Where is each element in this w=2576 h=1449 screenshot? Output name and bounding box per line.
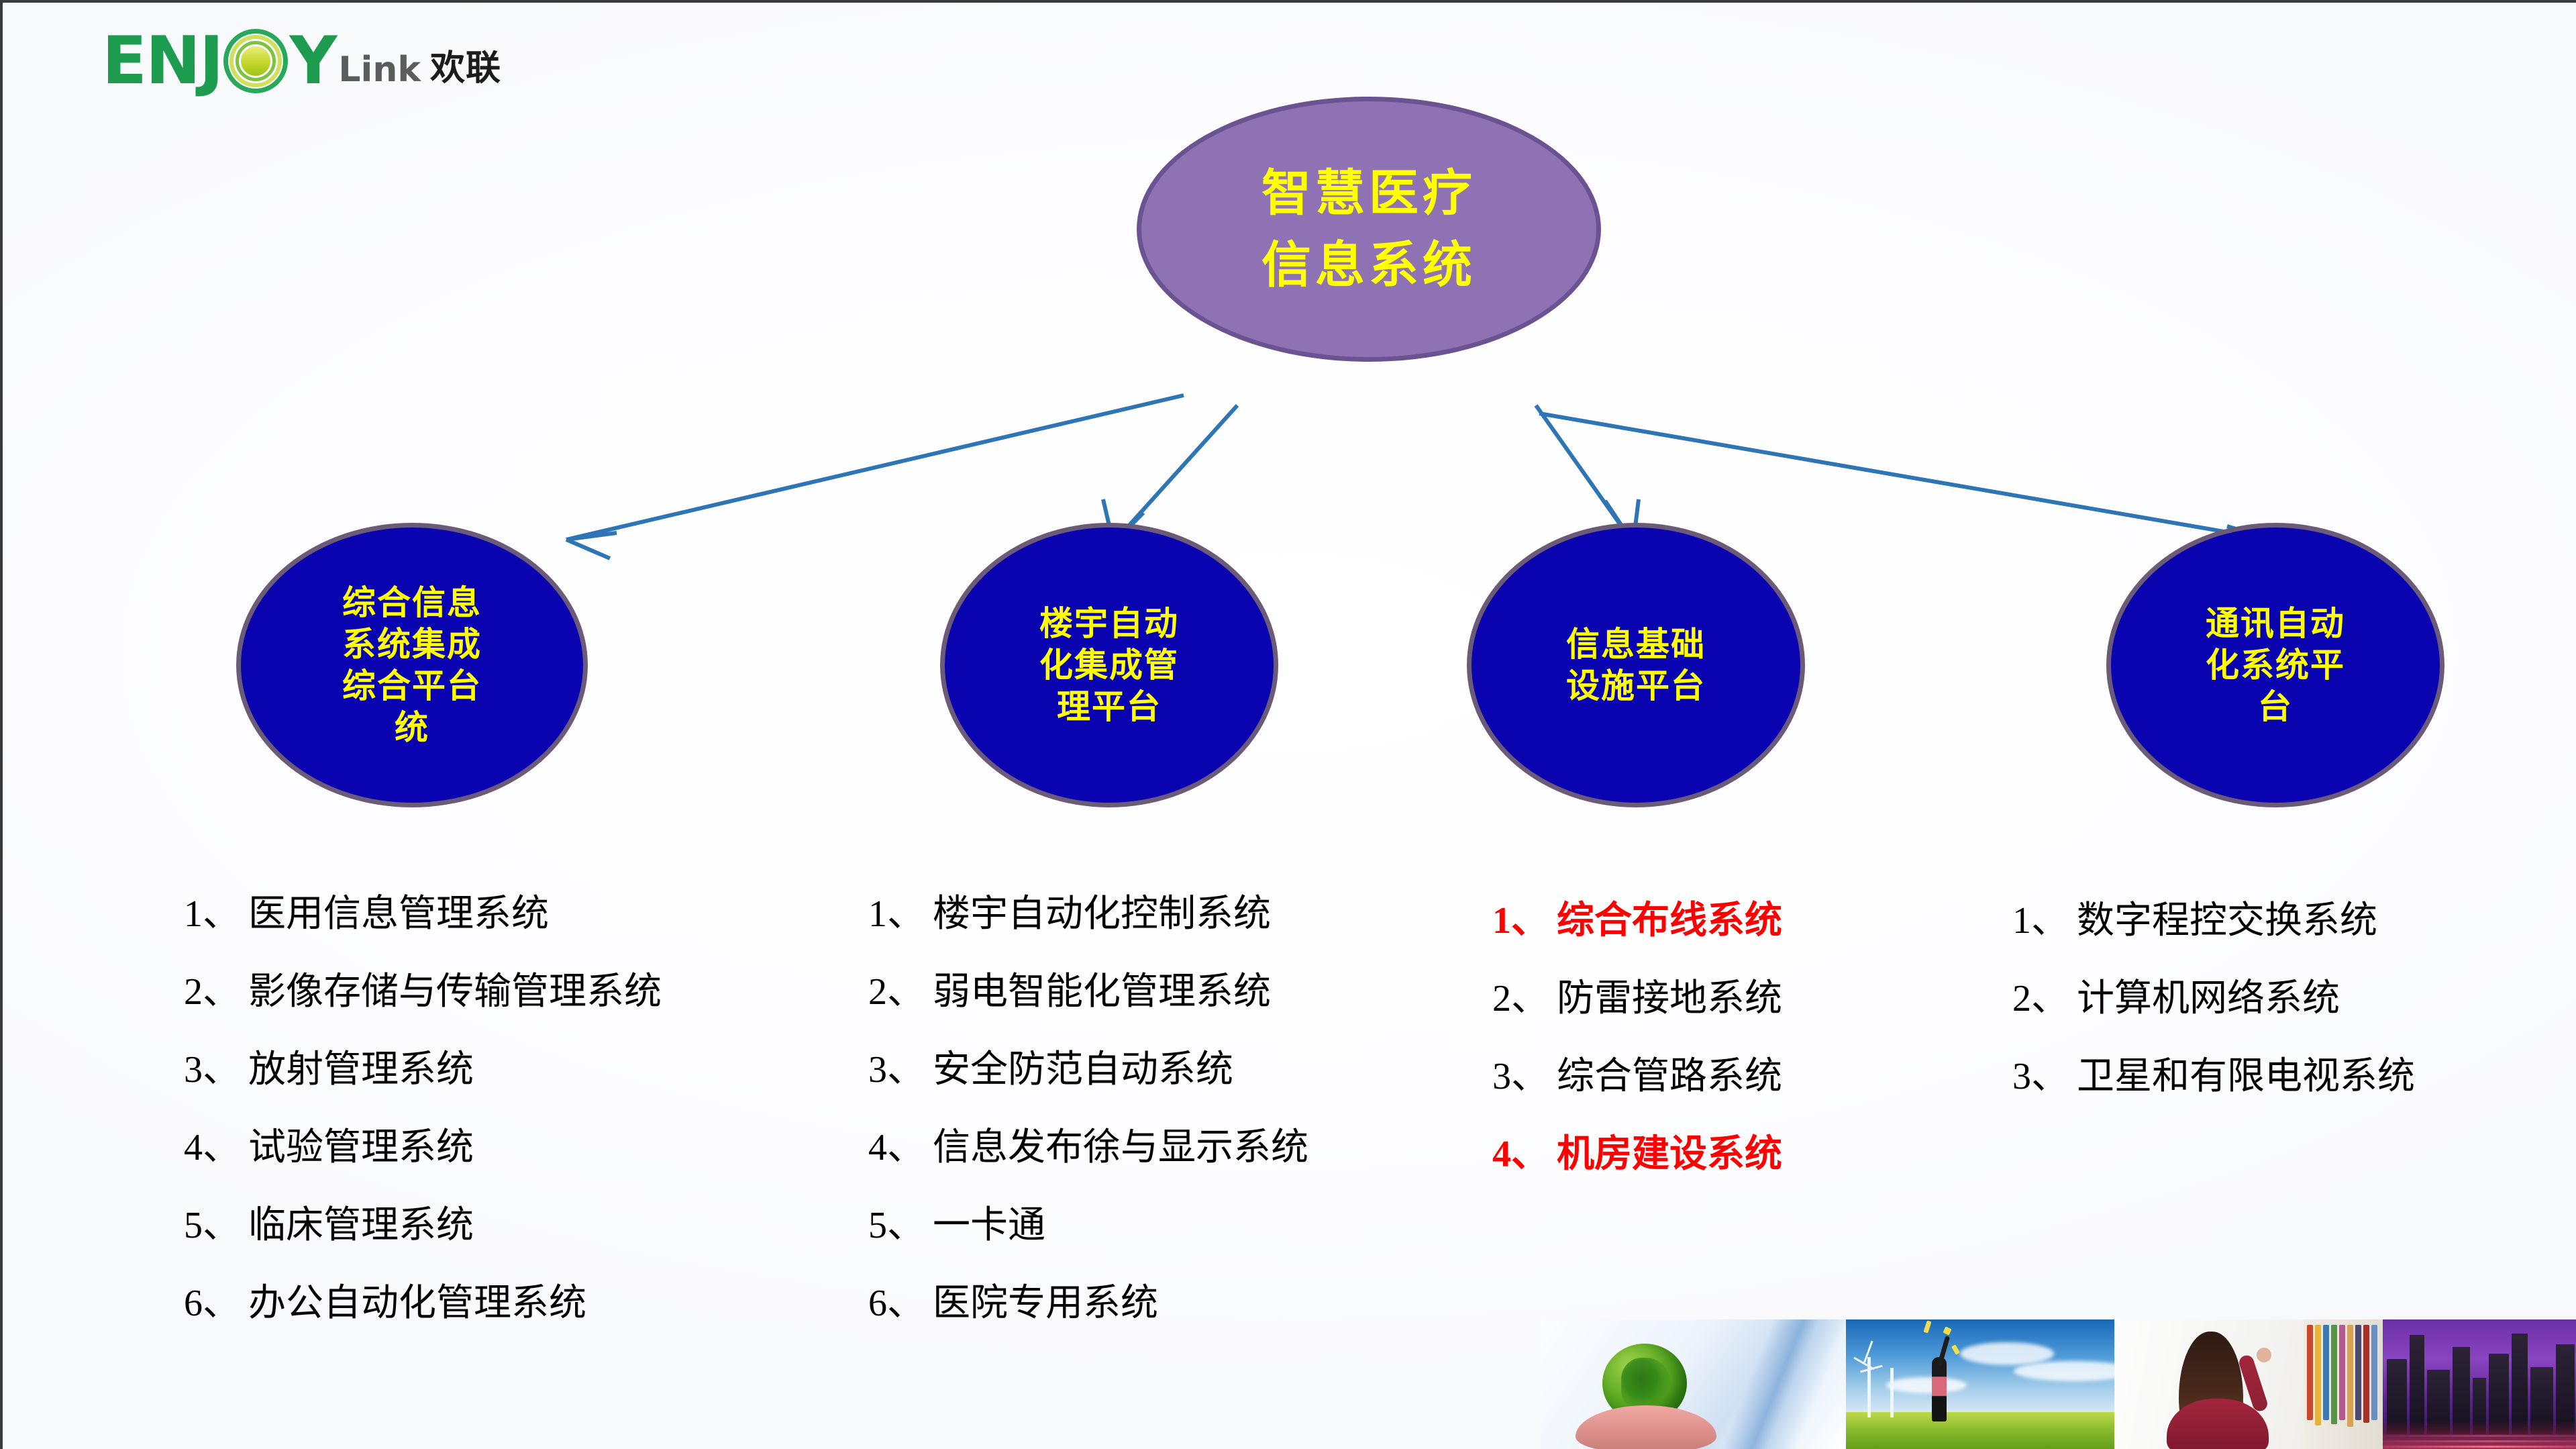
logo-text-link: Link [338, 50, 421, 90]
list-item-label: 数字程控交换系统 [2077, 902, 2377, 940]
list-item: 3、卫星和有限电视系统 [2012, 1058, 2569, 1095]
node-leaf-0-line-1: 综合信息 [342, 584, 482, 622]
list-item: 4、机房建设系统 [1492, 1136, 2002, 1173]
list-item-index: 1、 [2012, 902, 2077, 940]
list-item-index: 6、 [184, 1285, 248, 1322]
list-item: 3、安全防范自动系统 [868, 1051, 1472, 1089]
node-leaf-1-line-2: 化集成管 [1039, 646, 1179, 685]
node-leaf-3-line-1: 通讯自动 [2206, 605, 2345, 643]
list-item: 2、防雷接地系统 [1492, 980, 2002, 1017]
list-item-label: 医院专用系统 [933, 1285, 1158, 1322]
list-item-label: 安全防范自动系统 [933, 1051, 1233, 1089]
list-column-medical: 1、医用信息管理系统 2、影像存储与传输管理系统 3、放射管理系统 4、试验管理… [184, 895, 868, 1362]
list-item-index: 5、 [184, 1207, 248, 1244]
list-item: 1、医用信息管理系统 [184, 895, 868, 933]
logo-text-cn: 欢联 [430, 40, 501, 90]
list-item: 2、弱电智能化管理系统 [868, 973, 1472, 1011]
node-leaf-3-line-2: 化系统平 [2206, 646, 2345, 685]
list-item: 2、计算机网络系统 [2012, 980, 2569, 1017]
list-item-index: 1、 [868, 895, 933, 933]
list-column-infrastructure: 1、综合布线系统 2、防雷接地系统 3、综合管路系统 4、机房建设系统 [1492, 902, 2002, 1213]
photo-purple-night-city-skyline [2383, 1319, 2576, 1449]
list-item-index: 3、 [1492, 1058, 1557, 1095]
list-item: 4、试验管理系统 [184, 1129, 868, 1166]
list-item-index: 1、 [1492, 902, 1557, 940]
node-information-infrastructure-platform[interactable]: 信息基础 设施平台 [1467, 523, 1805, 807]
list-item-index: 4、 [868, 1129, 933, 1166]
photo-hands-holding-green-globe [1541, 1319, 1846, 1449]
list-item-label: 影像存储与传输管理系统 [248, 973, 662, 1011]
node-communication-automation-platform[interactable]: 通讯自动 化系统平 台 [2106, 523, 2444, 807]
list-item: 4、信息发布徐与显示系统 [868, 1129, 1472, 1166]
list-item: 1、楼宇自动化控制系统 [868, 895, 1472, 933]
list-column-communication: 1、数字程控交换系统 2、计算机网络系统 3、卫星和有限电视系统 [2012, 902, 2569, 1136]
node-leaf-1-line-3: 理平台 [1039, 688, 1179, 726]
list-item-index: 3、 [868, 1051, 933, 1089]
node-root-line-1: 智慧医疗 [1261, 165, 1476, 221]
node-leaf-1-label: 楼宇自动 化集成管 理平台 [1035, 601, 1183, 730]
photo-strip [1541, 1319, 2576, 1449]
sun-leaf-icon [223, 29, 288, 93]
list-item-label: 综合布线系统 [1557, 902, 1782, 940]
list-item-index: 3、 [184, 1051, 248, 1089]
list-item-index: 2、 [184, 973, 248, 1011]
node-root-line-2: 信息系统 [1261, 237, 1476, 293]
list-item: 6、医院专用系统 [868, 1285, 1472, 1322]
node-leaf-2-label: 信息基础 设施平台 [1562, 622, 1710, 709]
slide-canvas: ENJ Y Link 欢联 智慧医疗 [0, 0, 2576, 1449]
list-item: 2、影像存储与传输管理系统 [184, 973, 868, 1011]
list-item-index: 3、 [2012, 1058, 2077, 1095]
list-item-index: 2、 [868, 973, 933, 1011]
node-leaf-3-line-3: 台 [2206, 688, 2345, 726]
list-item-label: 防雷接地系统 [1557, 980, 1782, 1017]
list-item: 3、放射管理系统 [184, 1051, 868, 1089]
list-item-label: 一卡通 [933, 1207, 1045, 1244]
list-item-label: 办公自动化管理系统 [248, 1285, 586, 1322]
list-item-label: 综合管路系统 [1557, 1058, 1782, 1095]
list-item-index: 2、 [1492, 980, 1557, 1017]
list-item-label: 楼宇自动化控制系统 [933, 895, 1271, 933]
node-leaf-0-line-3: 综合平台 [342, 667, 482, 705]
node-leaf-2-line-1: 信息基础 [1566, 626, 1706, 664]
node-building-automation-platform[interactable]: 楼宇自动 化集成管 理平台 [940, 523, 1278, 807]
list-item-label: 放射管理系统 [248, 1051, 474, 1089]
list-item-index: 2、 [2012, 980, 2077, 1017]
photo-person-reaching-sky-windmills [1846, 1319, 2114, 1449]
list-item: 3、综合管路系统 [1492, 1058, 2002, 1095]
list-item-index: 5、 [868, 1207, 933, 1244]
list-item-label: 信息发布徐与显示系统 [933, 1129, 1308, 1166]
list-item: 1、综合布线系统 [1492, 902, 2002, 940]
list-item-label: 临床管理系统 [248, 1207, 474, 1244]
list-item: 1、数字程控交换系统 [2012, 902, 2569, 940]
list-item-label: 机房建设系统 [1557, 1136, 1782, 1173]
node-leaf-0-line-4: 统 [342, 709, 482, 747]
list-item-label: 试验管理系统 [248, 1129, 474, 1166]
enjoylink-logo: ENJ Y Link 欢联 [102, 28, 501, 94]
list-item-label: 卫星和有限电视系统 [2077, 1058, 2415, 1095]
logo-text-enj: ENJ [102, 28, 222, 94]
node-leaf-0-line-2: 系统集成 [342, 626, 482, 664]
list-item-index: 4、 [184, 1129, 248, 1166]
node-root-label: 智慧医疗 信息系统 [1257, 150, 1480, 308]
node-comprehensive-info-platform[interactable]: 综合信息 系统集成 综合平台 统 [236, 523, 588, 807]
photo-woman-at-bookshelf [2114, 1319, 2383, 1449]
list-item-index: 4、 [1492, 1136, 1557, 1173]
list-item-label: 计算机网络系统 [2077, 980, 2340, 1017]
node-leaf-3-label: 通讯自动 化系统平 台 [2202, 601, 2349, 730]
list-item: 6、办公自动化管理系统 [184, 1285, 868, 1322]
node-leaf-1-line-1: 楼宇自动 [1039, 605, 1179, 643]
list-item: 5、临床管理系统 [184, 1207, 868, 1244]
logo-text-y: Y [289, 28, 336, 94]
list-item: 5、一卡通 [868, 1207, 1472, 1244]
list-item-label: 医用信息管理系统 [248, 895, 549, 933]
node-leaf-2-line-2: 设施平台 [1566, 667, 1706, 705]
list-item-index: 6、 [868, 1285, 933, 1322]
node-leaf-0-label: 综合信息 系统集成 综合平台 统 [338, 581, 486, 750]
node-root[interactable]: 智慧医疗 信息系统 [1137, 97, 1601, 362]
list-column-building: 1、楼宇自动化控制系统 2、弱电智能化管理系统 3、安全防范自动系统 4、信息发… [868, 895, 1472, 1362]
list-item-index: 1、 [184, 895, 248, 933]
list-item-label: 弱电智能化管理系统 [933, 973, 1271, 1011]
